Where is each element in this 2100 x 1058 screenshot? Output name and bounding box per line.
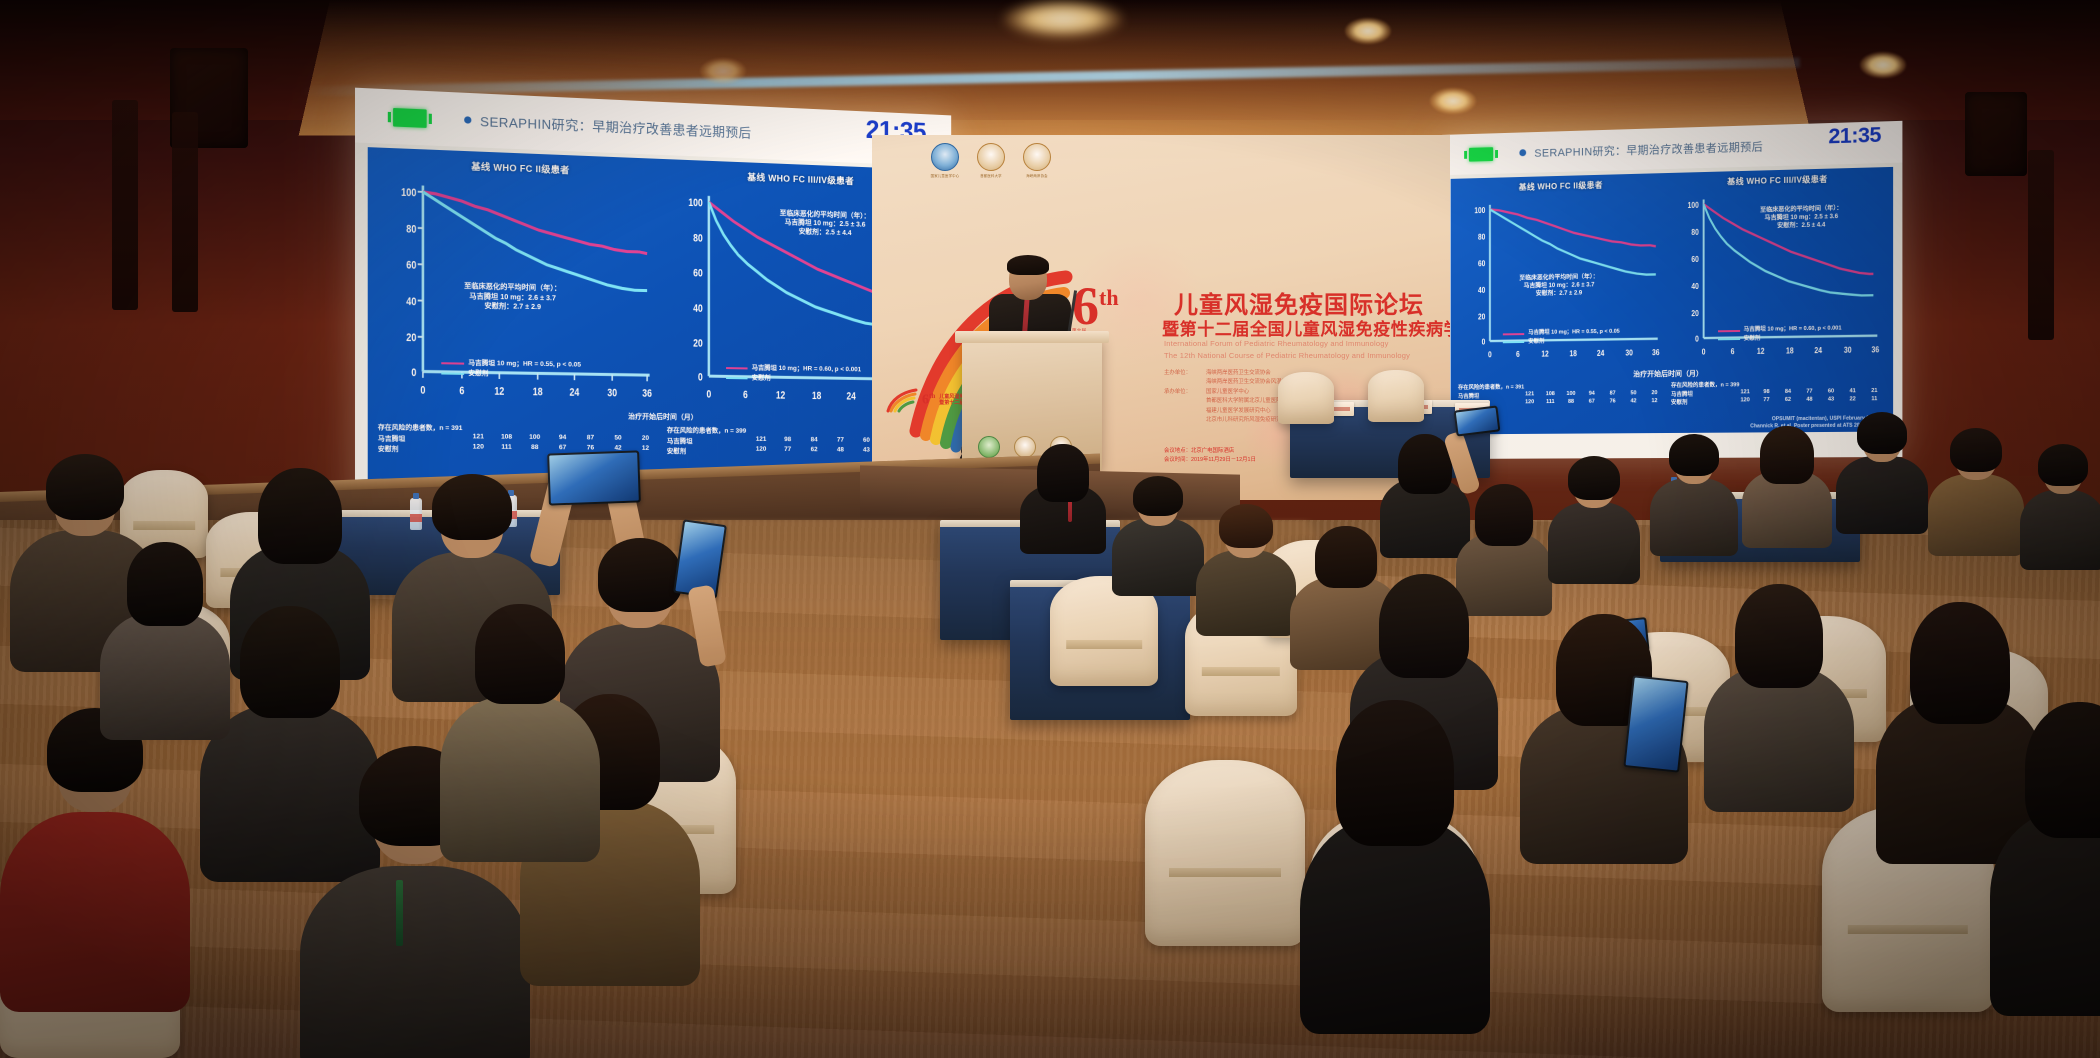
svg-text:40: 40 — [693, 303, 703, 315]
risk-table: 存在风险的患者数，n = 399 马吉腾坦121988477604121 安慰剂… — [1671, 378, 1885, 405]
svg-text:20: 20 — [1478, 312, 1485, 322]
legend-label-placebo: 安慰剂 — [468, 369, 488, 379]
km-note: 至临床恶化的平均时间（年）： 马吉腾坦 10 mg：2.5 ± 3.6 安慰剂：… — [1760, 204, 1842, 230]
km-legend: 马吉腾坦 10 mg；HR = 0.60, p < 0.001 安慰剂 — [726, 363, 861, 384]
svg-text:6: 6 — [743, 389, 748, 401]
hair — [475, 604, 565, 704]
legend-swatch-placebo — [441, 372, 464, 374]
legend-swatch-drug — [1503, 333, 1524, 335]
hair — [1475, 484, 1533, 546]
km-legend: 马吉腾坦 10 mg；HR = 0.60, p < 0.001 安慰剂 — [1718, 325, 1842, 343]
svg-text:24: 24 — [1597, 348, 1605, 358]
svg-text:0: 0 — [1695, 334, 1699, 344]
torso — [1836, 456, 1928, 534]
svg-text:0: 0 — [1481, 337, 1485, 347]
audience-member — [2020, 440, 2100, 560]
km-note: 至临床恶化的平均时间（年）： 马吉腾坦 10 mg：2.6 ± 3.7 安慰剂：… — [464, 282, 561, 313]
slide-title: SERAPHIN研究：早期治疗改善患者远期预后 — [1534, 138, 1763, 161]
torso — [1928, 474, 2024, 556]
backdrop-subtitle-cn: 暨第十二届全国儿童风湿免疫性疾病学习班 — [1162, 315, 1450, 340]
svg-text:80: 80 — [406, 223, 417, 236]
km-note: 至临床恶化的平均时间（年）： 马吉腾坦 10 mg：2.6 ± 3.7 安慰剂：… — [1519, 273, 1598, 299]
audience-member — [1112, 470, 1204, 590]
svg-text:36: 36 — [642, 387, 652, 399]
hair — [258, 468, 342, 564]
km-panel-fc2: 基线 WHO FC II级患者 10080 6040 200 0612 — [1458, 178, 1665, 370]
svg-text:40: 40 — [1691, 281, 1698, 291]
svg-text:24: 24 — [1814, 345, 1822, 355]
hair — [1398, 434, 1452, 494]
svg-text:6: 6 — [1731, 346, 1735, 356]
svg-text:20: 20 — [693, 338, 703, 350]
svg-text:30: 30 — [1844, 345, 1852, 355]
km-legend: 马吉腾坦 10 mg；HR = 0.55, p < 0.05 安慰剂 — [1503, 328, 1620, 346]
battery-icon — [393, 107, 427, 127]
legend-label-placebo: 安慰剂 — [1744, 334, 1761, 343]
legend-swatch-placebo — [1718, 338, 1740, 340]
audience-member — [1704, 580, 1854, 800]
svg-text:12: 12 — [1541, 349, 1548, 359]
svg-text:100: 100 — [688, 197, 703, 209]
svg-text:0: 0 — [1488, 350, 1492, 360]
torso — [1548, 502, 1640, 584]
backdrop-title-en-2: The 12th National Course of Pediatric Rh… — [1164, 351, 1410, 360]
svg-text:36: 36 — [1652, 347, 1659, 357]
podium-logo-green-icon — [978, 436, 1000, 458]
torso — [1650, 478, 1738, 556]
svg-text:18: 18 — [532, 386, 542, 398]
risk-table-block: 存在风险的患者数，n = 391 马吉腾坦12110810094875020 安… — [378, 421, 931, 457]
hair — [1037, 444, 1089, 502]
torso — [440, 696, 600, 862]
slide-body: 基线 WHO FC II级患者 10080 — [368, 148, 940, 496]
backdrop-logo-row: 国家儿童医学中心 首都医科大学 海峡两岸协会 — [930, 143, 1052, 178]
downlight — [1003, 0, 1123, 38]
hair — [598, 538, 682, 612]
svg-text:0: 0 — [706, 388, 711, 400]
torso — [1990, 810, 2100, 1016]
lanyard — [396, 880, 403, 946]
svg-text:18: 18 — [1569, 349, 1576, 359]
audience-member — [1928, 424, 2024, 548]
backdrop-venue-date: 会议地点：北京广电国际酒店 会议时间：2019年11月29日－12月1日 — [1164, 447, 1256, 465]
torso — [0, 812, 190, 1012]
km-panel-fc2: 基线 WHO FC II级患者 10080 — [378, 155, 659, 410]
legend-swatch-drug — [441, 362, 464, 364]
risk-table-block: 存在风险的患者数，n = 391 马吉腾坦12110810094875020 安… — [1458, 378, 1885, 407]
svg-text:80: 80 — [693, 232, 703, 244]
audience-member — [1020, 438, 1106, 548]
slide-title: SERAPHIN研究：早期治疗改善患者远期预后 — [480, 111, 751, 142]
km-panel-fc34: 基线 WHO FC III/IV级患者 10080 6040 200 06 — [1671, 172, 1885, 367]
torso — [300, 866, 530, 1058]
hair — [1669, 434, 1719, 476]
svg-text:40: 40 — [406, 296, 417, 309]
svg-text:0: 0 — [420, 384, 426, 396]
downlight — [1430, 88, 1476, 114]
hair — [1133, 476, 1183, 516]
downlight — [700, 58, 746, 84]
svg-text:24: 24 — [569, 386, 579, 398]
wall-column — [172, 112, 198, 312]
smartphone — [547, 450, 641, 505]
hair — [1379, 574, 1469, 678]
legend-swatch-drug — [1718, 330, 1740, 332]
svg-text:60: 60 — [1691, 254, 1698, 264]
logo-emblem-blue-icon: 国家儿童医学中心 — [930, 143, 960, 178]
audience-member — [1300, 700, 1490, 1020]
svg-text:30: 30 — [607, 387, 617, 399]
svg-text:100: 100 — [1688, 200, 1699, 210]
torso — [1196, 550, 1296, 636]
battery-icon — [1469, 147, 1493, 162]
svg-text:20: 20 — [406, 332, 417, 344]
smartphone — [1623, 675, 1688, 772]
hair — [1568, 456, 1620, 500]
risk-table: 存在风险的患者数，n = 391 马吉腾坦12110810094875020 安… — [378, 421, 659, 455]
svg-text:36: 36 — [1872, 345, 1880, 355]
torso — [2020, 490, 2100, 570]
audience-member — [1196, 498, 1296, 628]
legend-swatch-drug — [726, 367, 747, 369]
svg-text:12: 12 — [776, 389, 786, 401]
chair — [1368, 370, 1424, 422]
audience-member — [1548, 452, 1640, 576]
svg-text:20: 20 — [1691, 308, 1698, 318]
rainbow-mini-icon — [882, 387, 918, 413]
audience-member — [1990, 700, 2100, 1000]
bullet-icon — [1520, 149, 1527, 156]
logo-emblem-heart-icon: 海峡两岸协会 — [1022, 143, 1052, 178]
hair — [1336, 700, 1454, 846]
downlight — [1345, 18, 1391, 44]
torso — [1112, 518, 1204, 596]
hair — [2038, 444, 2088, 486]
legend-swatch-placebo — [1503, 341, 1524, 343]
audience-member — [1836, 408, 1928, 526]
svg-text:80: 80 — [1478, 232, 1485, 242]
audience-member — [1650, 430, 1738, 548]
svg-text:18: 18 — [812, 390, 822, 402]
hair — [127, 542, 203, 626]
torso — [100, 612, 230, 740]
torso — [1300, 818, 1490, 1034]
legend-label-drug: 马吉腾坦 10 mg；HR = 0.55, p < 0.05 — [1528, 328, 1619, 338]
svg-text:30: 30 — [1625, 348, 1632, 358]
svg-text:0: 0 — [698, 371, 703, 383]
chair — [1145, 760, 1305, 946]
hair — [240, 606, 340, 718]
svg-text:80: 80 — [1691, 227, 1698, 237]
conference-hall-photo: SERAPHIN研究：早期治疗改善患者远期预后 21:35 基线 WHO FC … — [0, 0, 2100, 1058]
svg-text:60: 60 — [1478, 259, 1485, 269]
svg-text:18: 18 — [1786, 346, 1794, 356]
podium-top — [955, 331, 1109, 343]
slide-body: 基线 WHO FC II级患者 10080 6040 200 0612 — [1451, 166, 1893, 434]
wall-column — [112, 100, 138, 310]
risk-row: 安慰剂120776248432211 — [1671, 396, 1885, 406]
svg-text:0: 0 — [1702, 347, 1706, 357]
legend-label-placebo: 安慰剂 — [1528, 337, 1544, 345]
hair — [1219, 504, 1273, 548]
hair — [1857, 412, 1907, 454]
svg-text:6: 6 — [459, 385, 464, 397]
legend-swatch-placebo — [726, 377, 747, 379]
svg-text:40: 40 — [1478, 285, 1485, 295]
edition-number: 6th 第六届 — [1072, 283, 1119, 333]
legend-label-placebo: 安慰剂 — [752, 374, 771, 384]
wall-column — [2028, 150, 2054, 340]
km-legend: 马吉腾坦 10 mg；HR = 0.55, p < 0.05 安慰剂 — [441, 358, 581, 380]
hair — [432, 474, 512, 540]
backdrop-title-en-1: International Forum of Pediatric Rheumat… — [1164, 339, 1389, 348]
hair — [1950, 428, 2002, 472]
smartphone — [1454, 405, 1501, 436]
hair — [2025, 702, 2100, 838]
hair — [1760, 426, 1814, 484]
presenter-hair — [1007, 255, 1049, 275]
svg-text:100: 100 — [401, 186, 417, 199]
svg-text:0: 0 — [411, 367, 417, 379]
audience-member — [100, 540, 230, 730]
projection-screen-right: SERAPHIN研究：早期治疗改善患者远期预后 21:35 基线 WHO FC … — [1442, 121, 1902, 459]
svg-text:12: 12 — [1757, 346, 1765, 356]
audience-member — [1742, 422, 1832, 540]
audience-member — [440, 600, 600, 850]
chair — [1278, 372, 1334, 424]
km-note: 至临床恶化的平均时间（年）： 马吉腾坦 10 mg：2.5 ± 3.6 安慰剂：… — [780, 209, 870, 240]
downlight — [1860, 52, 1906, 78]
svg-text:100: 100 — [1474, 205, 1485, 215]
edition-mini-number: 6th — [922, 392, 935, 409]
slide-clock: 21:35 — [1828, 124, 1881, 150]
km-plot: 10080 6040 200 0612 182430 36 — [1671, 186, 1885, 367]
wall-speaker — [1965, 92, 2027, 176]
svg-text:60: 60 — [406, 259, 417, 272]
svg-text:12: 12 — [494, 385, 504, 397]
legend-label-drug: 马吉腾坦 10 mg；HR = 0.60, p < 0.001 — [1744, 325, 1842, 335]
logo-emblem-gold-icon: 首都医科大学 — [976, 143, 1006, 178]
svg-text:60: 60 — [693, 267, 703, 279]
hair — [1735, 584, 1823, 688]
hair — [46, 454, 124, 520]
km-plot: 10080 6040 200 0612 182430 36 — [1458, 191, 1665, 369]
bullet-icon — [465, 116, 472, 123]
svg-text:6: 6 — [1516, 349, 1520, 359]
svg-text:24: 24 — [846, 390, 856, 402]
audience-member — [0, 700, 190, 1000]
km-plot: 10080 6040 200 0612 — [378, 171, 659, 412]
